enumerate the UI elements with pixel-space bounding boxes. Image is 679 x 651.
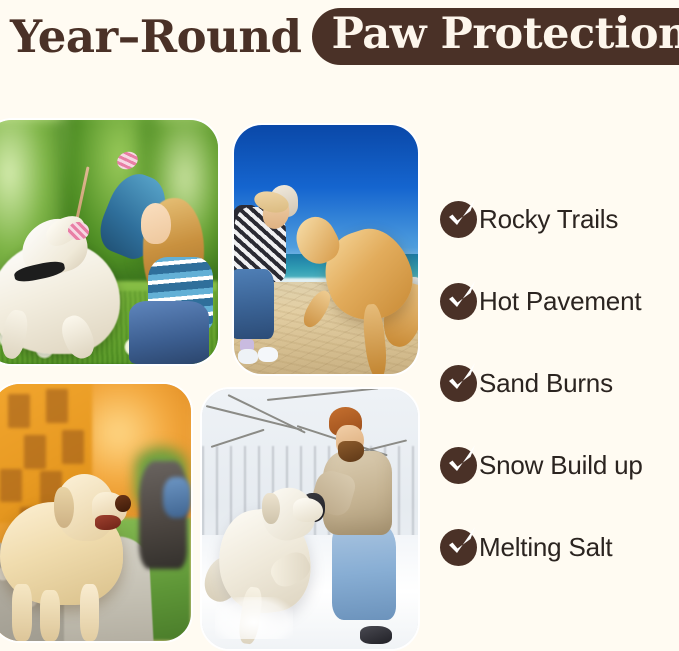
check-circle-icon bbox=[440, 283, 477, 320]
feature-label: Sand Burns bbox=[479, 368, 613, 399]
photo-path bbox=[0, 382, 193, 643]
check-circle-icon bbox=[440, 365, 477, 402]
feature-label: Hot Pavement bbox=[479, 286, 641, 317]
check-circle-icon bbox=[440, 529, 477, 566]
title-badge-label: Paw Protection bbox=[332, 9, 679, 59]
check-circle-icon bbox=[440, 447, 477, 484]
feature-label: Melting Salt bbox=[479, 532, 612, 563]
photo-snow bbox=[200, 387, 420, 651]
photo-park bbox=[0, 118, 220, 366]
feature-label: Rocky Trails bbox=[479, 204, 618, 235]
feature-label: Snow Build up bbox=[479, 450, 643, 481]
page-title: Year–Round bbox=[10, 14, 302, 59]
feature-item-melting-salt: Melting Salt bbox=[440, 506, 679, 588]
photo-collage bbox=[0, 110, 424, 641]
feature-item-sand-burns: Sand Burns bbox=[440, 342, 679, 424]
page-header: Year–Round Paw Protection bbox=[0, 0, 679, 72]
title-badge-pill: Paw Protection bbox=[312, 8, 679, 65]
feature-item-rocky-trails: Rocky Trails bbox=[440, 178, 679, 260]
feature-item-snow-build-up: Snow Build up bbox=[440, 424, 679, 506]
check-circle-icon bbox=[440, 201, 477, 238]
feature-item-hot-pavement: Hot Pavement bbox=[440, 260, 679, 342]
feature-list: Rocky Trails Hot Pavement Sand Burns Sno… bbox=[440, 178, 679, 588]
photo-beach bbox=[232, 123, 420, 376]
